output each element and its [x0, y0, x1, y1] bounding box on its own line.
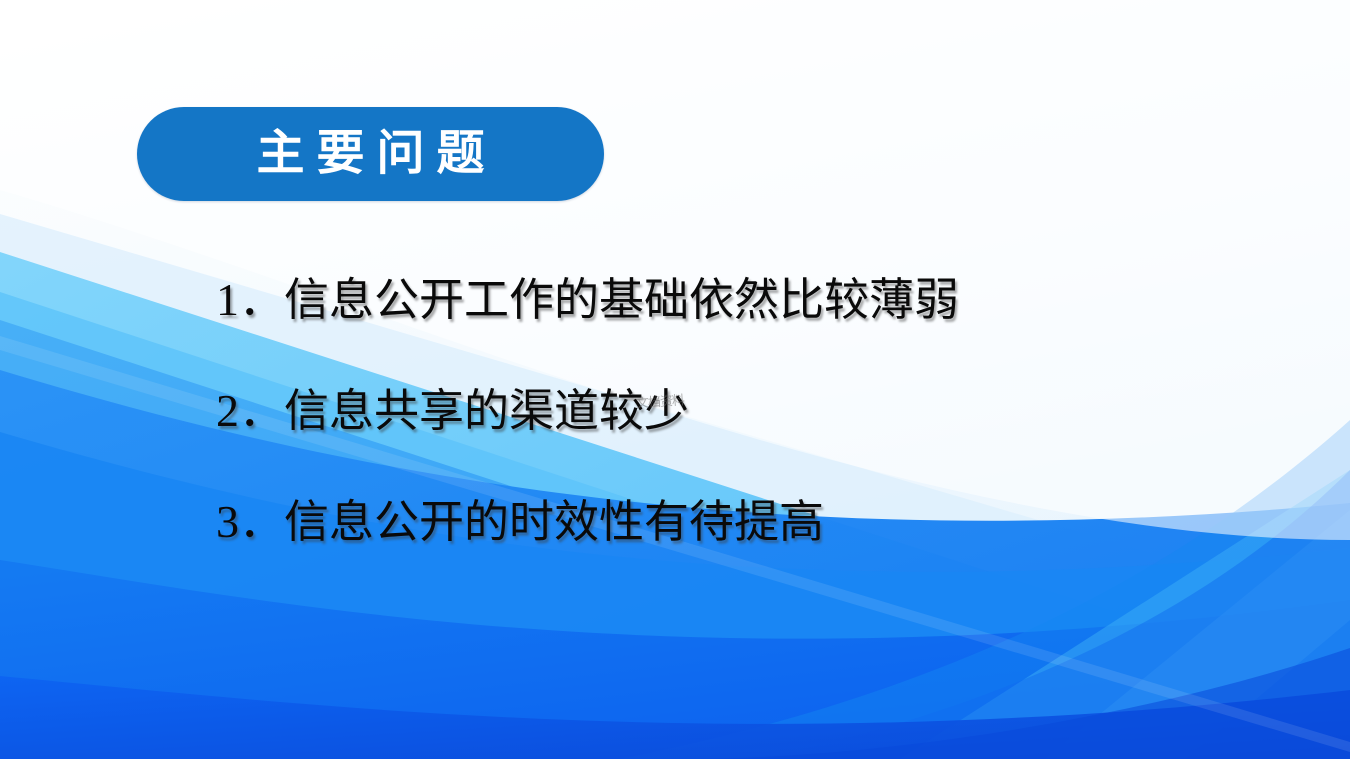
list-item-number: 2	[216, 385, 239, 436]
list-item-label: 信息公开工作的基础依然比较薄弱	[284, 273, 959, 326]
list-item: 2．信息共享的渠道较少	[216, 387, 1266, 436]
problem-list: 1．信息公开工作的基础依然比较薄弱 2．信息共享的渠道较少 3．信息公开的时效性…	[216, 276, 1266, 546]
list-item-label: 信息共享的渠道较少	[284, 384, 689, 437]
page-title: 主要问题	[244, 130, 496, 178]
list-item-separator: ．	[239, 495, 284, 548]
slide-canvas: 主要问题 1．信息公开工作的基础依然比较薄弱 2．信息共享的渠道较少 3．信息公…	[0, 0, 1350, 759]
list-item-separator: ．	[239, 273, 284, 326]
list-item: 1．信息公开工作的基础依然比较薄弱	[216, 276, 1266, 325]
slide-title-pill: 主要问题	[137, 107, 604, 201]
list-item-number: 3	[216, 496, 239, 547]
list-item-label: 信息公开的时效性有待提高	[284, 495, 824, 548]
list-item-number: 1	[216, 274, 239, 325]
list-item-separator: ．	[239, 384, 284, 437]
list-item: 3．信息公开的时效性有待提高	[216, 498, 1266, 547]
